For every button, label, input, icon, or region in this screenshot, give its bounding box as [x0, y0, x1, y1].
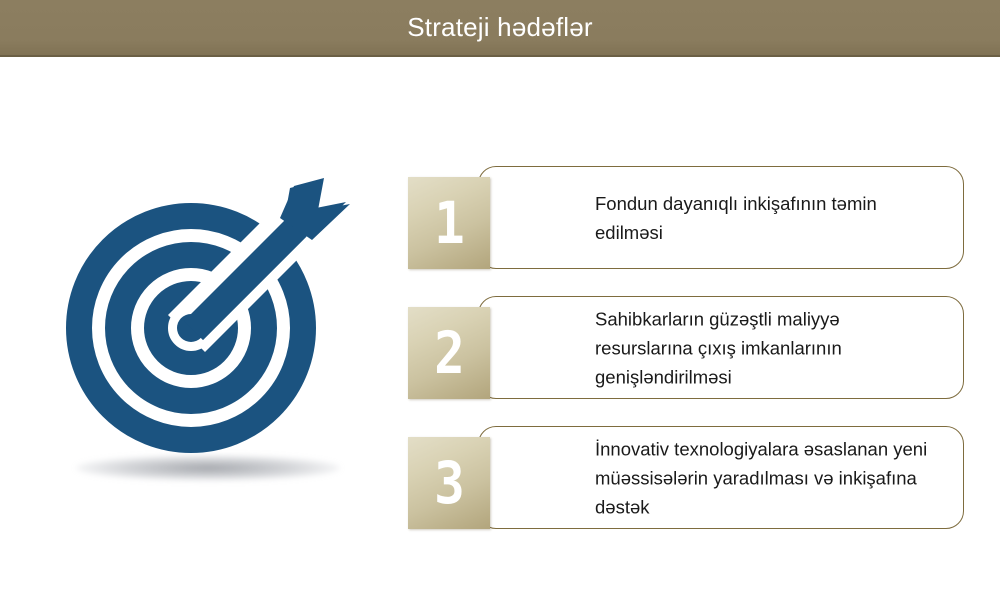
goal-item: İnnovativ texnologiyalara əsaslanan yeni…: [408, 426, 964, 529]
target-bullseye-arrow-icon: [58, 168, 358, 468]
goal-number-badge: 2: [408, 307, 490, 399]
goal-item: Sahibkarların güzəştli maliyyə resurslar…: [408, 296, 964, 399]
header-bar: Strateji hədəflər: [0, 0, 1000, 57]
goal-item: Fondun dayanıqlı inkişafının təmin edilm…: [408, 166, 964, 269]
goal-number: 1: [413, 177, 485, 269]
page-title: Strateji hədəflər: [0, 0, 1000, 55]
goal-number: 2: [413, 307, 485, 399]
goal-text: Fondun dayanıqlı inkişafının təmin edilm…: [595, 189, 937, 247]
goal-box: İnnovativ texnologiyalara əsaslanan yeni…: [478, 426, 964, 529]
goal-box: Sahibkarların güzəştli maliyyə resurslar…: [478, 296, 964, 399]
goal-box: Fondun dayanıqlı inkişafının təmin edilm…: [478, 166, 964, 269]
goal-number: 3: [413, 437, 485, 529]
goal-text: İnnovativ texnologiyalara əsaslanan yeni…: [595, 434, 937, 521]
goal-number-badge: 3: [408, 437, 490, 529]
goal-number-badge: 1: [408, 177, 490, 269]
goal-text: Sahibkarların güzəştli maliyyə resurslar…: [595, 304, 937, 391]
target-illustration: [58, 168, 358, 488]
